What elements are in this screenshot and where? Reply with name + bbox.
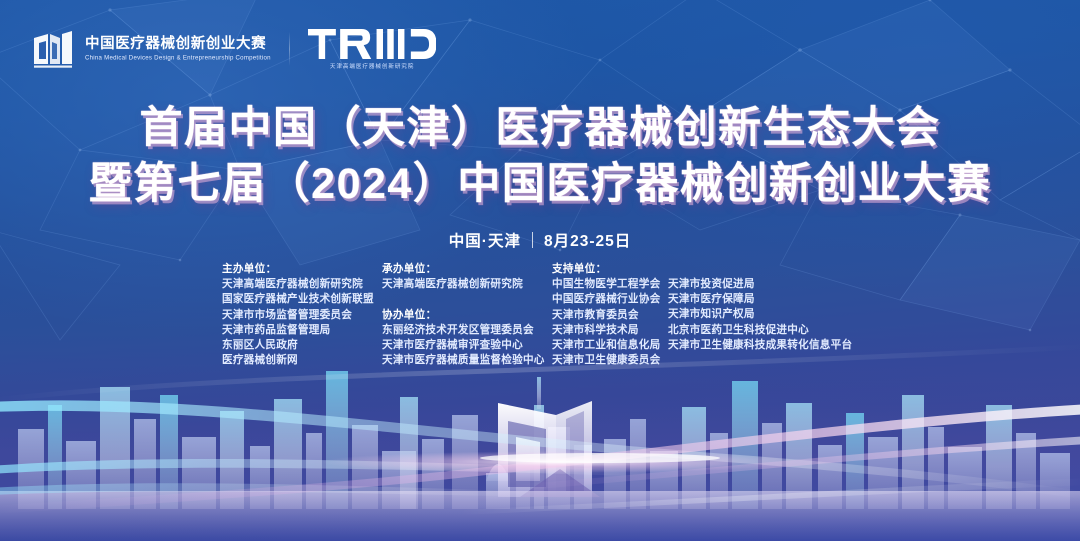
list-item: 天津市医疗保障局 [668, 292, 878, 307]
list-item: 北京市医药卫生科技促进中心 [668, 323, 878, 338]
list-item: 中国生物医学工程学会 [552, 277, 668, 292]
list-item: 国家医疗器械产业技术创新联盟 [222, 292, 382, 307]
institute-logo-cn-name: 天津高端医疗器械创新研究院 [330, 62, 414, 70]
city-skyline-graphic [0, 341, 1080, 541]
column-spacer [382, 292, 552, 307]
institute-logo[interactable]: 天津高端医疗器械创新研究院 [308, 29, 437, 70]
organizers-column-supporter-b: 天津市投资促进局 天津市医疗保障局 天津市知识产权局 北京市医药卫生科技促进中心… [668, 262, 878, 353]
event-info-bar: 中国·天津 8月23-25日 [0, 229, 1080, 251]
list-item: 天津市教育委员会 [552, 308, 668, 323]
event-dates: 8月23-25日 [544, 229, 631, 251]
event-title-line-1: 首届中国（天津）医疗器械创新生态大会 [0, 100, 1080, 156]
triid-wordmark-icon [308, 29, 437, 59]
competition-logo-cn-name: 中国医疗器械创新创业大赛 [85, 36, 271, 53]
gate-monument-shape [498, 401, 600, 497]
list-item: 天津市工业和信息化局 [552, 338, 668, 353]
competition-logo[interactable]: 中国医疗器械创新创业大赛 China Medical Devices Desig… [30, 26, 271, 72]
organizers-block: 主办单位： 天津高端医疗器械创新研究院 国家医疗器械产业技术创新联盟 天津市市场… [222, 262, 878, 368]
competition-logo-en-name: China Medical Devices Design & Entrepren… [85, 54, 271, 62]
list-item: 医疗器械创新网 [222, 353, 382, 368]
organizers-column-supporter-a: 支持单位： 中国生物医学工程学会 中国医疗器械行业协会 天津市教育委员会 天津市… [552, 262, 668, 368]
event-info-separator [532, 232, 533, 248]
list-item: 天津市知识产权局 [668, 307, 878, 322]
list-item: 天津市医疗器械质量监督检验中心 [382, 353, 552, 368]
organizers-column-host: 主办单位： 天津高端医疗器械创新研究院 国家医疗器械产业技术创新联盟 天津市市场… [222, 262, 382, 368]
coorganizer-heading: 协办单位： [382, 308, 552, 323]
list-item: 天津市药品监督管理局 [222, 323, 382, 338]
list-item: 天津市卫生健康科技成果转化信息平台 [668, 338, 878, 353]
event-title-block: 首届中国（天津）医疗器械创新生态大会 暨第七届（2024）中国医疗器械创新创业大… [0, 100, 1080, 212]
list-item: 天津高端医疗器械创新研究院 [382, 277, 552, 292]
list-item: 东丽区人民政府 [222, 338, 382, 353]
organizers-column-undertaker: 承办单位： 天津高端医疗器械创新研究院 协办单位： 东丽经济技术开发区管理委员会… [382, 262, 552, 368]
list-item: 天津高端医疗器械创新研究院 [222, 277, 382, 292]
list-item: 天津市科学技术局 [552, 323, 668, 338]
undertaker-heading: 承办单位： [382, 262, 552, 277]
supporter-heading: 支持单位： [552, 262, 668, 277]
list-item: 天津市医疗器械审评查验中心 [382, 338, 552, 353]
list-item: 东丽经济技术开发区管理委员会 [382, 323, 552, 338]
event-title-line-2: 暨第七届（2024）中国医疗器械创新创业大赛 [0, 156, 1080, 212]
gate-door-logo-mark [30, 26, 76, 72]
list-item: 天津市卫生健康委员会 [552, 353, 668, 368]
list-item: 天津市市场监督管理委员会 [222, 308, 382, 323]
list-item: 天津市投资促进局 [668, 277, 878, 292]
logo-divider [289, 32, 290, 66]
list-item: 中国医疗器械行业协会 [552, 292, 668, 307]
conference-banner-poster: 中国医疗器械创新创业大赛 China Medical Devices Desig… [0, 0, 1080, 541]
header-logo-bar: 中国医疗器械创新创业大赛 China Medical Devices Desig… [30, 26, 436, 72]
host-heading: 主办单位： [222, 262, 382, 277]
event-city: 中国·天津 [449, 229, 521, 251]
